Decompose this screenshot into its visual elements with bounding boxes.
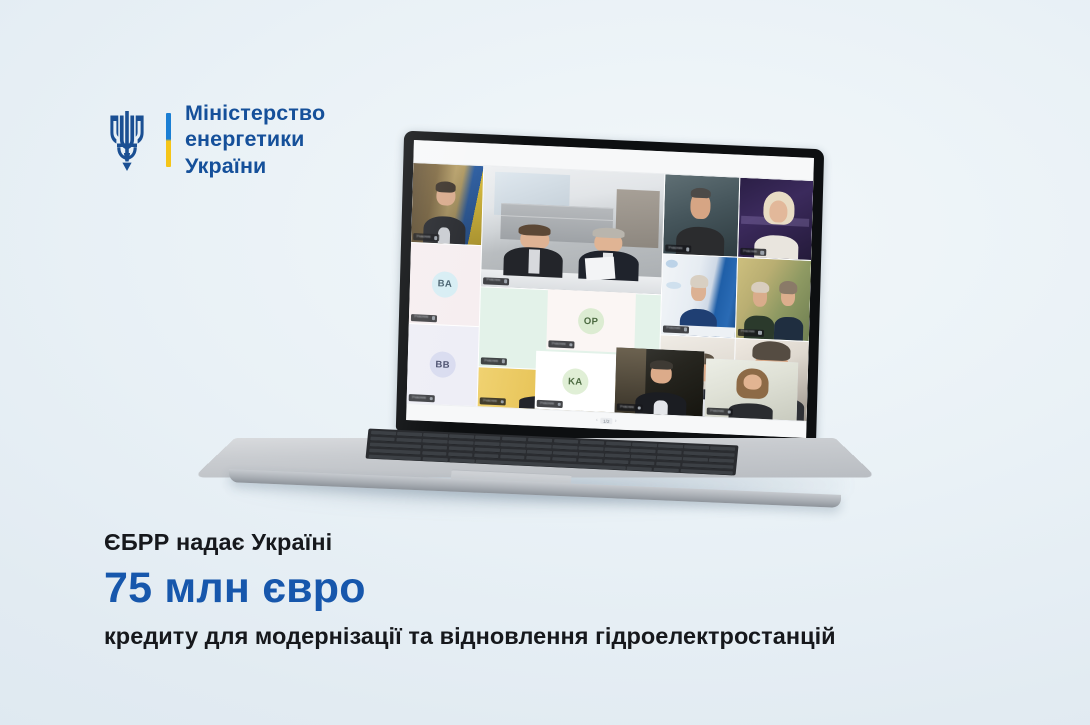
participant-tile[interactable]: KA Учасник bbox=[535, 351, 617, 412]
avatar-initials: BA bbox=[438, 279, 453, 291]
participant-tile[interactable]: Учасник bbox=[735, 258, 811, 341]
promo-banner: Міністерство енергетики України bbox=[0, 0, 1090, 725]
participant-name-label: Учасник bbox=[737, 328, 763, 336]
avatar-initials: OP bbox=[584, 315, 599, 327]
avatar-initials: BB bbox=[435, 359, 450, 371]
participant-avatar: BA bbox=[432, 271, 459, 298]
mic-muted-icon bbox=[434, 236, 438, 240]
participant-avatar: BB bbox=[429, 351, 456, 378]
participant-avatar: OP bbox=[578, 308, 605, 335]
mic-muted-icon bbox=[727, 410, 731, 414]
conference-tile-grid: Учасник BA Учасник bbox=[407, 163, 814, 421]
participant-tile[interactable]: BB Учасник bbox=[407, 324, 479, 406]
pagination-prev-icon[interactable]: ‹ bbox=[596, 418, 598, 424]
laptop-screen: Учасник BA Учасник bbox=[406, 140, 814, 438]
ukraine-trident-tryzub-icon bbox=[104, 109, 150, 171]
participant-avatar: KA bbox=[562, 368, 589, 395]
pagination-page-indicator: 1/2 bbox=[601, 418, 612, 425]
headline-block: ЄБРР надає Україні 75 млн євро кредиту д… bbox=[104, 528, 1004, 650]
laptop-base bbox=[205, 432, 865, 518]
laptop-lid: Учасник BA Учасник bbox=[396, 131, 824, 450]
headline-subtitle: кредиту для модернізації та відновлення … bbox=[104, 622, 1004, 651]
participant-tile[interactable]: Учасник bbox=[738, 178, 814, 261]
mic-muted-icon bbox=[760, 251, 764, 255]
participant-tile[interactable]: BA Учасник bbox=[409, 243, 481, 325]
mic-muted-icon bbox=[686, 247, 690, 251]
mic-muted-icon bbox=[758, 331, 762, 335]
participant-tile[interactable]: OP Учасник bbox=[546, 289, 636, 353]
participant-name-label: Учасник bbox=[617, 403, 643, 411]
participant-name-label: Учасник bbox=[707, 407, 733, 415]
participant-tile[interactable]: Учасник bbox=[663, 174, 739, 257]
participant-name-label: Учасник bbox=[480, 397, 506, 405]
logo-divider-flag-bar bbox=[166, 113, 171, 167]
participant-name-label: Учасник bbox=[481, 357, 507, 365]
mic-muted-icon bbox=[569, 343, 573, 347]
participant-name-label: Учасник bbox=[483, 277, 509, 285]
mic-muted-icon bbox=[504, 279, 508, 283]
mic-muted-icon bbox=[637, 406, 641, 410]
participant-tile[interactable]: Учасник bbox=[411, 163, 483, 245]
headline-kicker: ЄБРР надає Україні bbox=[104, 528, 1004, 556]
participant-tile[interactable]: Учасник bbox=[615, 348, 705, 417]
participant-name-label: Учасник bbox=[663, 325, 689, 333]
laptop-device: Учасник BA Учасник bbox=[205, 140, 865, 540]
avatar-initials: KA bbox=[568, 376, 583, 388]
grid-pagination[interactable]: ‹ 1/2 › bbox=[596, 417, 617, 424]
mic-muted-icon bbox=[501, 360, 505, 364]
mic-muted-icon bbox=[684, 328, 688, 332]
mic-muted-icon bbox=[429, 397, 433, 401]
participant-name-label: Учасник bbox=[548, 340, 574, 348]
participant-name-label: Учасник bbox=[537, 400, 563, 408]
logo-line-1: Міністерство bbox=[185, 100, 325, 126]
mic-muted-icon bbox=[432, 316, 436, 320]
pagination-next-icon[interactable]: › bbox=[615, 418, 617, 424]
participant-name-label: Учасник bbox=[409, 394, 435, 402]
participant-tile[interactable]: Учасник bbox=[661, 255, 737, 338]
headline-amount: 75 млн євро bbox=[104, 562, 1004, 614]
participant-tile[interactable]: Учасник bbox=[705, 359, 799, 421]
mic-muted-icon bbox=[500, 400, 504, 404]
mic-muted-icon bbox=[557, 402, 561, 406]
participant-tile-main-speaker[interactable]: Учасник bbox=[481, 166, 664, 294]
participant-name-label: Учасник bbox=[411, 314, 437, 322]
